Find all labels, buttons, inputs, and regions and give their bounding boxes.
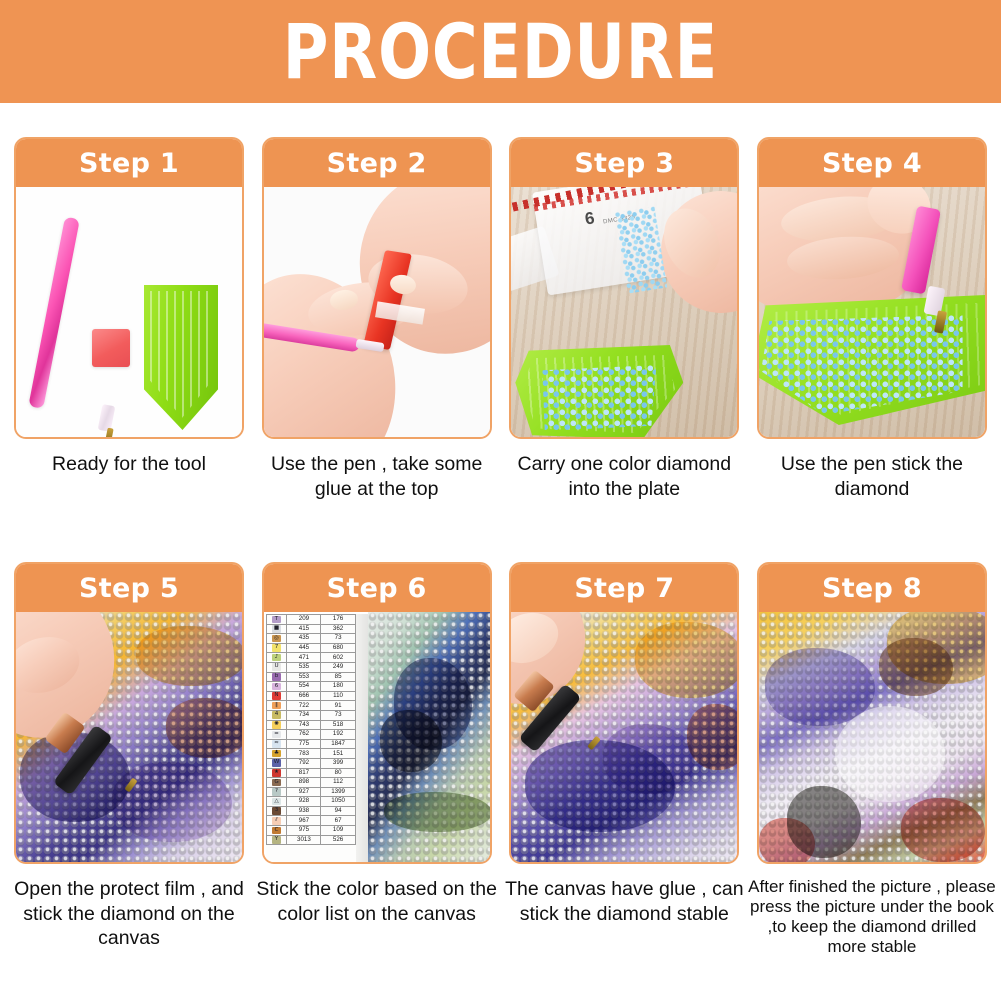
- step-card-2: Step 2 Use the pen , take some: [262, 137, 492, 501]
- white-flower-blotch: [835, 706, 945, 802]
- step-8-header: Step 8: [759, 564, 985, 612]
- purple-blotch: [112, 762, 232, 842]
- step-6-card: Step 6 T209176■415362◎435737445680♪47160…: [262, 562, 492, 864]
- color-chart-symbol-cell: ♣: [266, 749, 287, 759]
- color-chart-code-cell: 3013: [287, 835, 321, 845]
- steps-row-bottom: Step 5: [0, 562, 1001, 957]
- step-1-card: Step 1: [14, 137, 244, 439]
- color-chart-code-cell: 743: [287, 720, 321, 730]
- color-chart-row: 393894: [266, 806, 355, 816]
- step-3-photo: 6 DMC 3325: [511, 187, 737, 437]
- color-chart-symbol-cell: ‖: [266, 701, 287, 711]
- color-chart-count-cell: 192: [321, 730, 355, 740]
- page-header-banner: PROCEDURE: [0, 0, 1001, 103]
- color-chart-symbol-cell: =: [266, 730, 287, 740]
- color-chart-row: N666110: [266, 691, 355, 701]
- color-swatch-icon: 6: [272, 683, 281, 691]
- color-chart-code-cell: 554: [287, 682, 321, 692]
- color-chart-row: 473473: [266, 710, 355, 720]
- color-chart-count-cell: 110: [321, 691, 355, 701]
- dark-blotch: [380, 710, 442, 772]
- color-swatch-icon: T: [272, 616, 281, 624]
- color-chart-count-cell: 1847: [321, 739, 355, 749]
- color-chart-row: 6554180: [266, 682, 355, 692]
- chart-gutter: [356, 614, 368, 862]
- color-chart-row: 7445680: [266, 643, 355, 653]
- color-chart-code-cell: 209: [287, 615, 321, 625]
- step-8-image: [759, 612, 985, 862]
- color-chart-count-cell: 112: [321, 778, 355, 788]
- color-chart-row: b55385: [266, 672, 355, 682]
- color-chart-body: T209176■415362◎435737445680♪471602U53524…: [266, 615, 355, 845]
- green-blotch: [384, 792, 490, 832]
- step-4-header: Step 4: [759, 139, 985, 187]
- color-swatch-icon: ◎: [272, 635, 281, 643]
- color-chart-code-cell: 817: [287, 768, 321, 778]
- color-chart-symbol-cell: ♪: [266, 653, 287, 663]
- color-swatch-icon: U: [272, 663, 281, 671]
- color-chart-row: =762192: [266, 730, 355, 740]
- color-chart-row: G898112: [266, 778, 355, 788]
- step-6-header: Step 6: [264, 564, 490, 612]
- color-chart-symbol-cell: T: [266, 615, 287, 625]
- red-flower-blotch: [901, 798, 985, 862]
- step-card-7: Step 7: [509, 562, 739, 957]
- step-3-caption: Carry one color diamond into the plate: [502, 452, 746, 501]
- color-swatch-icon: ?: [272, 788, 281, 796]
- step-8-card: Step 8: [757, 562, 987, 864]
- step-3-image: 6 DMC 3325: [511, 187, 737, 437]
- color-chart-symbol-cell: W: [266, 758, 287, 768]
- color-chart-row: ◎43573: [266, 634, 355, 644]
- color-chart-count-cell: 67: [321, 816, 355, 826]
- step-7-image: [511, 612, 737, 862]
- color-swatch-icon: ♣: [272, 750, 281, 758]
- color-chart-row: C975109: [266, 826, 355, 836]
- color-chart-count-cell: 94: [321, 806, 355, 816]
- color-swatch-icon: 3: [272, 807, 281, 815]
- color-chart-symbol-cell: N: [266, 691, 287, 701]
- step-7-card: Step 7: [509, 562, 739, 864]
- step-5-header: Step 5: [16, 564, 242, 612]
- color-chart-code-cell: 722: [287, 701, 321, 711]
- pink-pen-icon: [28, 217, 80, 409]
- color-chart-count-cell: 73: [321, 710, 355, 720]
- step-7-photo: [511, 612, 737, 862]
- color-swatch-icon: ♪: [272, 654, 281, 662]
- step-card-1: Step 1 Ready for the tool: [14, 137, 244, 501]
- color-chart-count-cell: 602: [321, 653, 355, 663]
- step-2-header: Step 2: [264, 139, 490, 187]
- color-chart-count-cell: 85: [321, 672, 355, 682]
- color-chart-code-cell: 666: [287, 691, 321, 701]
- color-swatch-icon: ‖: [272, 702, 281, 710]
- color-chart-code-cell: 471: [287, 653, 321, 663]
- step-3-header: Step 3: [511, 139, 737, 187]
- step-2-caption: Use the pen , take some glue at the top: [255, 452, 499, 501]
- color-chart-row: ⫽96767: [266, 816, 355, 826]
- color-chart-code-cell: 762: [287, 730, 321, 740]
- step-4-image: [759, 187, 985, 437]
- glue-square-icon: [92, 329, 130, 367]
- color-chart-symbol-cell: △: [266, 797, 287, 807]
- color-chart-code-cell: 938: [287, 806, 321, 816]
- step-6-photo: T209176■415362◎435737445680♪471602U53524…: [264, 612, 490, 862]
- color-chart-code-cell: 435: [287, 634, 321, 644]
- step-card-5: Step 5: [14, 562, 244, 957]
- color-chart-row: ★81780: [266, 768, 355, 778]
- step-3-card: Step 3 6 DMC 3325: [509, 137, 739, 439]
- orange-blotch: [166, 698, 242, 758]
- step-1-header: Step 1: [16, 139, 242, 187]
- color-chart-symbol-cell: ✺: [266, 720, 287, 730]
- color-chart-symbol-cell: ⫽: [266, 816, 287, 826]
- color-chart-row: ♣783151: [266, 749, 355, 759]
- color-swatch-icon: =: [272, 731, 281, 739]
- color-chart-symbol-cell: 7: [266, 643, 287, 653]
- color-chart-row: ■415362: [266, 624, 355, 634]
- color-chart-code-cell: 792: [287, 758, 321, 768]
- color-chart-row: ≈7751847: [266, 739, 355, 749]
- color-chart-code-cell: 415: [287, 624, 321, 634]
- step-8-caption: After finished the picture , please pres…: [747, 877, 997, 957]
- color-chart-symbol-cell: U: [266, 662, 287, 672]
- color-swatch-icon: C: [272, 827, 281, 835]
- color-chart-symbol-cell: 3: [266, 806, 287, 816]
- page-title: PROCEDURE: [283, 14, 718, 90]
- step-4-caption: Use the pen stick the diamond: [750, 452, 994, 501]
- purple-blotch: [603, 724, 695, 794]
- step-card-4: Step 4: [757, 137, 987, 501]
- color-chart-row: ✺743518: [266, 720, 355, 730]
- step-8-photo: [759, 612, 985, 862]
- color-chart-code-cell: 535: [287, 662, 321, 672]
- step-6-caption: Stick the color based on the color list …: [255, 877, 499, 926]
- color-chart-code-cell: 445: [287, 643, 321, 653]
- color-chart-symbol-cell: ?: [266, 787, 287, 797]
- color-chart-code-cell: 783: [287, 749, 321, 759]
- step-card-8: Step 8 After fi: [757, 562, 987, 957]
- color-chart-symbol-cell: ◎: [266, 634, 287, 644]
- color-chart-symbol-cell: ≈: [266, 739, 287, 749]
- color-swatch-icon: 7: [272, 644, 281, 652]
- color-chart-symbol-cell: 6: [266, 682, 287, 692]
- color-chart-code-cell: 927: [287, 787, 321, 797]
- color-swatch-icon: 4: [272, 711, 281, 719]
- color-chart-count-cell: 518: [321, 720, 355, 730]
- color-swatch-icon: ■: [272, 625, 281, 633]
- color-chart-code-cell: 898: [287, 778, 321, 788]
- color-chart-count-cell: 680: [321, 643, 355, 653]
- color-chart-symbol-cell: b: [266, 672, 287, 682]
- color-chart-row: ‖72291: [266, 701, 355, 711]
- color-chart-symbol-cell: ■: [266, 624, 287, 634]
- color-chart-count-cell: 91: [321, 701, 355, 711]
- color-chart-code-cell: 775: [287, 739, 321, 749]
- color-chart-row: W792399: [266, 758, 355, 768]
- color-chart-table: T209176■415362◎435737445680♪471602U53524…: [266, 614, 356, 845]
- step-5-card: Step 5: [14, 562, 244, 864]
- step-7-header: Step 7: [511, 564, 737, 612]
- color-chart-code-cell: 734: [287, 710, 321, 720]
- color-chart-code-cell: 553: [287, 672, 321, 682]
- brown-centre-blotch: [879, 638, 953, 696]
- color-chart-count-cell: 151: [321, 749, 355, 759]
- step-2-card: Step 2: [262, 137, 492, 439]
- color-chart-count-cell: 80: [321, 768, 355, 778]
- color-chart-count-cell: 180: [321, 682, 355, 692]
- steps-row-top: Step 1 Ready for the tool Step 2: [0, 137, 1001, 501]
- color-chart-row: ♪471602: [266, 653, 355, 663]
- color-chart-count-cell: 249: [321, 662, 355, 672]
- color-chart-count-cell: 109: [321, 826, 355, 836]
- color-chart-row: U535249: [266, 662, 355, 672]
- procedure-infographic: PROCEDURE Step 1 Ready for t: [0, 0, 1001, 1001]
- step-2-image: [264, 187, 490, 437]
- color-chart-row: T209176: [266, 615, 355, 625]
- color-swatch-icon: △: [272, 798, 281, 806]
- color-chart: T209176■415362◎435737445680♪471602U53524…: [266, 614, 356, 862]
- color-swatch-icon: ✺: [272, 721, 281, 729]
- color-swatch-icon: ⫽: [272, 817, 281, 825]
- step-7-caption: The canvas have glue , can stick the dia…: [502, 877, 746, 926]
- step-4-card: Step 4: [757, 137, 987, 439]
- color-chart-symbol-cell: C: [266, 826, 287, 836]
- step-card-3: Step 3 6 DMC 3325: [509, 137, 739, 501]
- step-4-photo: [759, 187, 985, 437]
- color-chart-count-cell: 399: [321, 758, 355, 768]
- color-swatch-icon: ★: [272, 769, 281, 777]
- color-chart-count-cell: 362: [321, 624, 355, 634]
- step-5-photo: [16, 612, 242, 862]
- color-chart-symbol-cell: ★: [266, 768, 287, 778]
- color-swatch-icon: G: [272, 779, 281, 787]
- color-chart-row: △9281050: [266, 797, 355, 807]
- color-chart-code-cell: 967: [287, 816, 321, 826]
- color-chart-code-cell: 975: [287, 826, 321, 836]
- color-chart-symbol-cell: G: [266, 778, 287, 788]
- color-chart-count-cell: 1399: [321, 787, 355, 797]
- color-chart-symbol-cell: Y: [266, 835, 287, 845]
- color-swatch-icon: N: [272, 692, 281, 700]
- color-chart-count-cell: 1050: [321, 797, 355, 807]
- steps-grid: Step 1 Ready for the tool Step 2: [0, 103, 1001, 1001]
- color-chart-symbol-cell: 4: [266, 710, 287, 720]
- step-6-image: T209176■415362◎435737445680♪471602U53524…: [264, 612, 490, 862]
- color-swatch-icon: W: [272, 759, 281, 767]
- yellow-flower-blotch: [635, 622, 737, 698]
- step-5-image: [16, 612, 242, 862]
- step-5-caption: Open the protect film , and stick the di…: [7, 877, 251, 951]
- yellow-flower-blotch: [136, 626, 242, 686]
- blue-diamonds-icon: [537, 365, 661, 431]
- color-swatch-icon: Y: [272, 836, 281, 844]
- color-chart-count-cell: 176: [321, 615, 355, 625]
- color-chart-count-cell: 526: [321, 835, 355, 845]
- color-chart-count-cell: 73: [321, 634, 355, 644]
- color-chart-row: Y3013526: [266, 835, 355, 845]
- color-swatch-icon: ≈: [272, 740, 281, 748]
- step-1-image: [16, 187, 242, 437]
- color-chart-row: ?9271399: [266, 787, 355, 797]
- color-swatch-icon: b: [272, 673, 281, 681]
- step-card-6: Step 6 T209176■415362◎435737445680♪47160…: [262, 562, 492, 957]
- color-chart-code-cell: 928: [287, 797, 321, 807]
- step-1-caption: Ready for the tool: [7, 452, 251, 477]
